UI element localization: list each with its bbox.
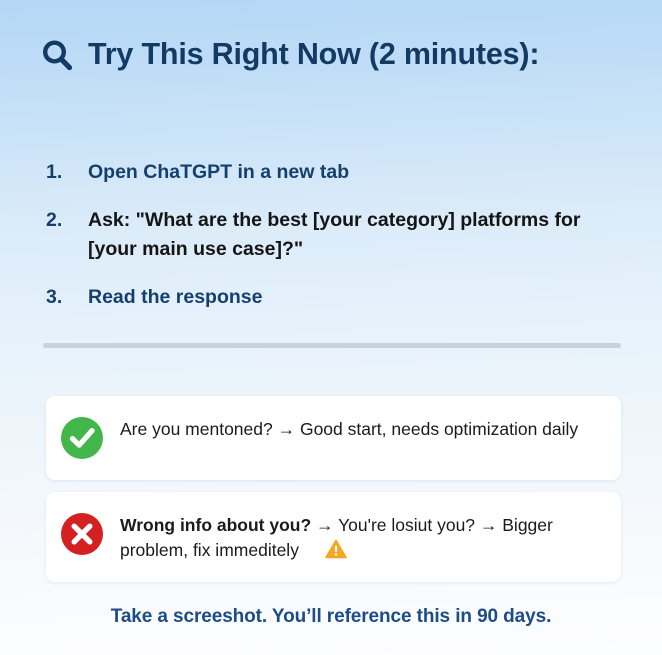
outcome-card-lead: Wrong info about you?: [120, 515, 311, 535]
step-number: 3.: [46, 283, 88, 313]
slide-root: Try This Right Now (2 minutes): 1. Open …: [0, 0, 662, 655]
page-title-row: Try This Right Now (2 minutes):: [40, 36, 539, 73]
outcome-card-body: Are you mentoned? → Good start, needs op…: [120, 419, 578, 439]
footer-callout: Take a screeshot. You’ll reference this …: [0, 606, 662, 628]
step-text: Open ChaTGPT in a new tab: [88, 158, 349, 188]
list-item: 1. Open ChaTGPT in a new tab: [46, 158, 626, 188]
outcome-card-text: Are you mentoned? → Good start, needs op…: [120, 415, 578, 442]
outcome-card-text: Wrong info about you? → You're losiut yo…: [120, 511, 603, 563]
list-item: 2. Ask: "What are the best [your categor…: [46, 206, 626, 265]
warning-triangle-icon: [325, 539, 347, 559]
outcome-card-positive: Are you mentoned? → Good start, needs op…: [46, 396, 621, 480]
outcome-cards: Are you mentoned? → Good start, needs op…: [46, 396, 621, 582]
check-circle-icon: [60, 416, 104, 460]
step-number: 2.: [46, 206, 88, 236]
search-icon: [40, 39, 74, 73]
step-text: Ask: "What are the best [your category] …: [88, 206, 626, 265]
outcome-card-negative: Wrong info about you? → You're losiut yo…: [46, 492, 621, 582]
step-text: Read the response: [88, 283, 262, 313]
page-title: Try This Right Now (2 minutes):: [88, 38, 539, 72]
x-circle-icon: [60, 512, 104, 556]
step-number: 1.: [46, 158, 88, 188]
steps-list: 1. Open ChaTGPT in a new tab 2. Ask: "Wh…: [46, 158, 626, 313]
section-divider: [43, 343, 621, 348]
list-item: 3. Read the response: [46, 283, 626, 313]
